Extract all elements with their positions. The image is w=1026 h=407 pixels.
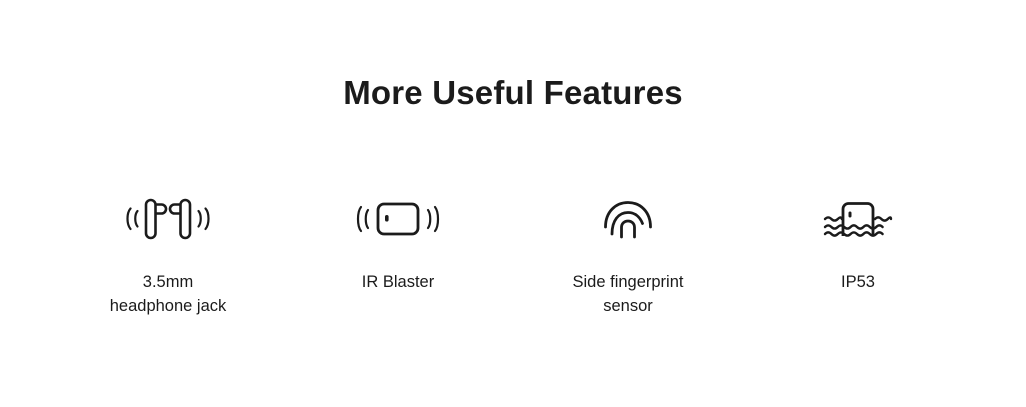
- earbuds-wireless-icon: [116, 190, 220, 248]
- fingerprint-icon: [602, 190, 654, 248]
- feature-label: Side fingerprint sensor: [573, 270, 684, 318]
- feature-item-fingerprint: Side fingerprint sensor: [522, 190, 734, 318]
- feature-label: 3.5mm headphone jack: [110, 270, 227, 318]
- page-title: More Useful Features: [0, 70, 1026, 115]
- feature-item-headphone-jack: 3.5mm headphone jack: [62, 190, 274, 318]
- feature-item-ir-blaster: IR Blaster: [292, 190, 504, 294]
- feature-label: IR Blaster: [362, 270, 434, 294]
- feature-label: IP53: [841, 270, 875, 294]
- feature-item-ip-rating: IP53: [752, 190, 964, 294]
- water-resistance-icon: [820, 190, 896, 248]
- feature-list: 3.5mm headphone jack IR Blaster: [62, 190, 964, 318]
- ir-blaster-icon: [352, 190, 444, 248]
- more-useful-features-section: More Useful Features: [0, 0, 1026, 407]
